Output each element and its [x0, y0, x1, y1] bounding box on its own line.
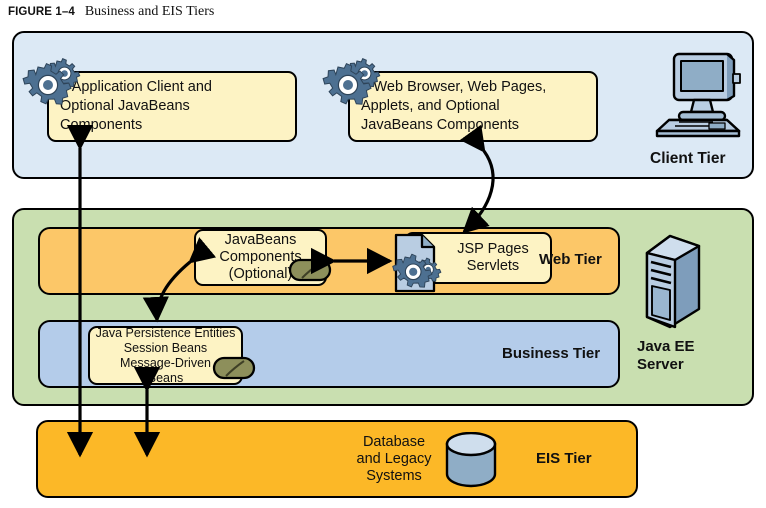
figure-number: FIGURE 1–4	[8, 6, 75, 18]
web-tier-label: Web Tier	[539, 251, 602, 268]
coffee-bean-icon	[288, 258, 332, 293]
figure-title: Business and EIS Tiers	[85, 4, 215, 20]
server-tower-icon	[642, 233, 704, 336]
java-ee-server-label: Java EE Server	[637, 338, 695, 373]
web-browser-card[interactable]: > Web Browser, Web Pages, Applets, and O…	[348, 71, 598, 142]
jsp-document-icon	[392, 232, 448, 299]
computer-icon	[653, 48, 745, 149]
database-cylinder-icon	[443, 432, 499, 493]
gears-icon	[20, 57, 82, 118]
client-tier-label: Client Tier	[650, 150, 726, 168]
application-client-card[interactable]: > Application Client and Optional JavaBe…	[47, 71, 297, 142]
eis-tier-label: EIS Tier	[536, 450, 592, 467]
figure-caption: FIGURE 1–4 Business and EIS Tiers	[8, 4, 214, 20]
coffee-bean-icon	[212, 356, 256, 391]
gears-icon	[320, 57, 382, 118]
jsp-card-label: JSP Pages Servlets	[445, 241, 541, 275]
database-legacy-label: Database and Legacy Systems	[344, 434, 444, 485]
business-tier-label: Business Tier	[502, 345, 600, 362]
